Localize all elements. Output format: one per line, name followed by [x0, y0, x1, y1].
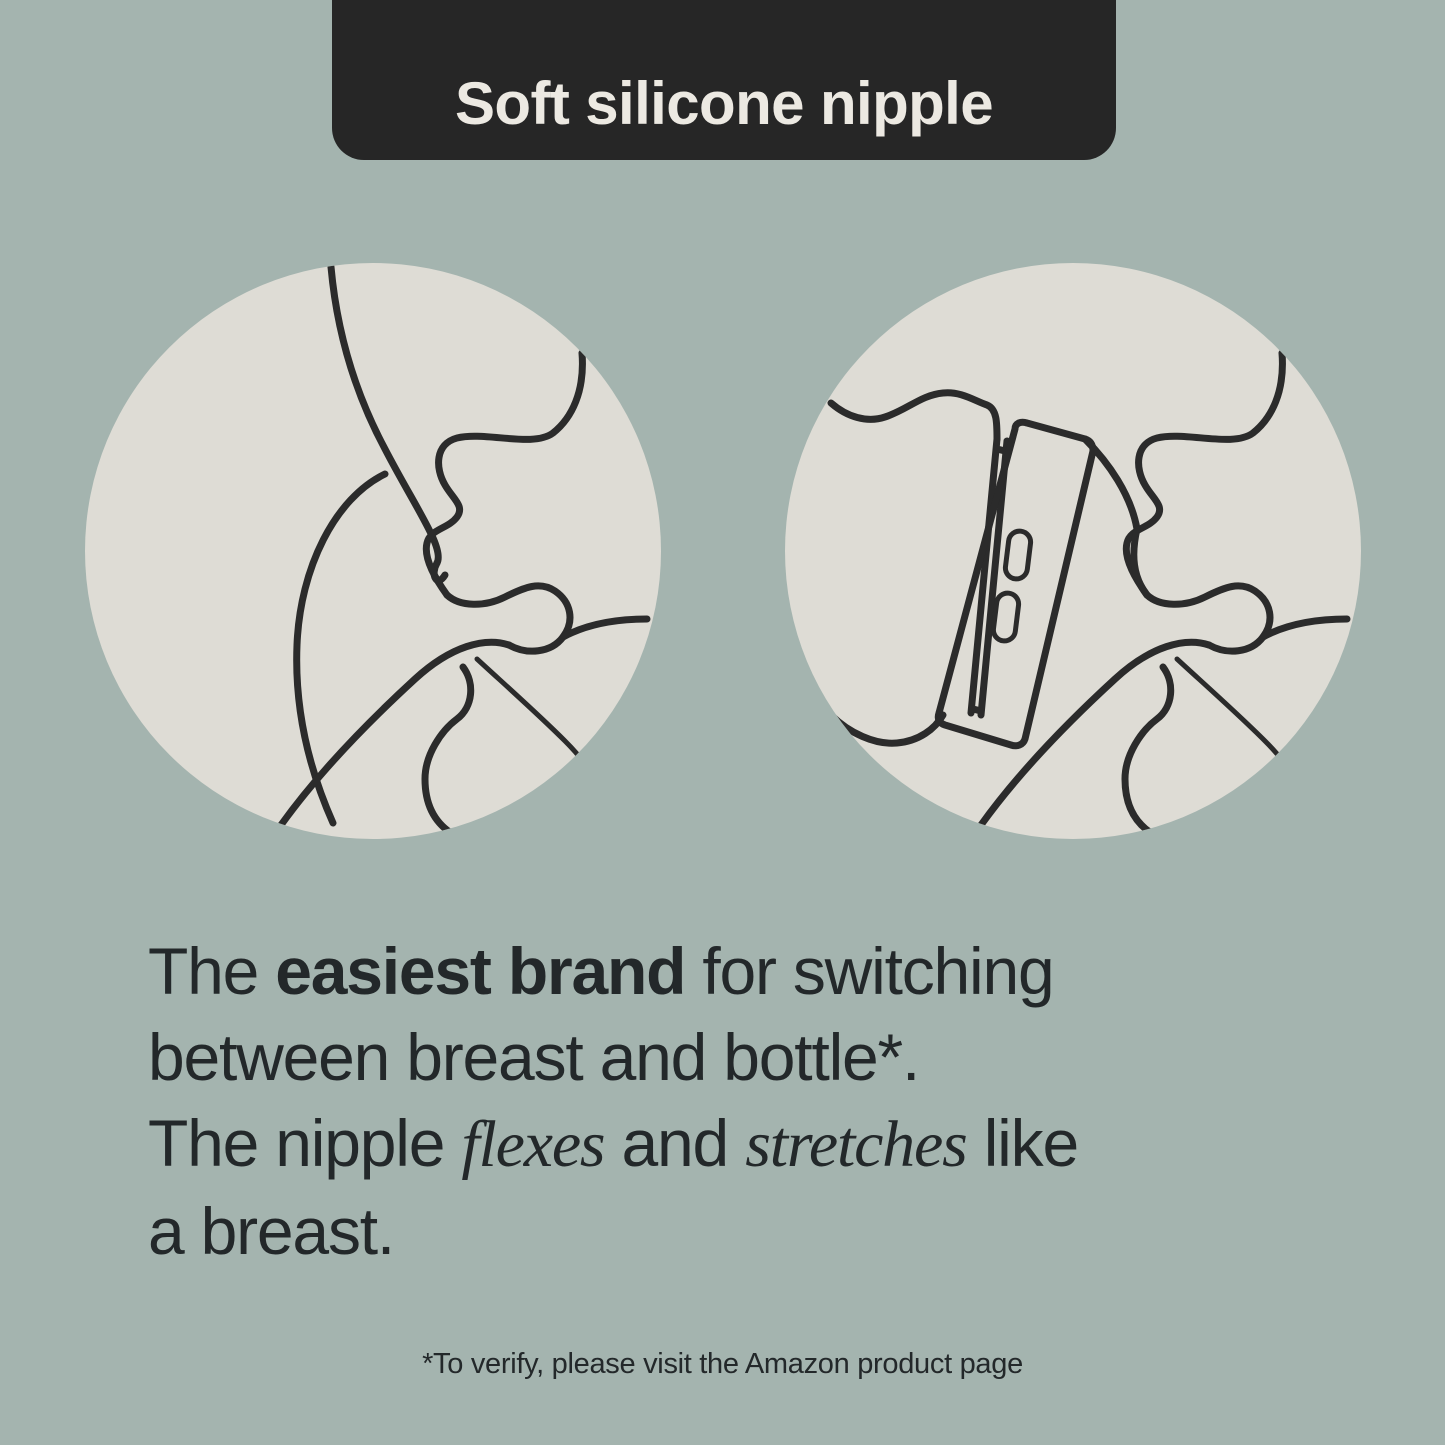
body-copy: The easiest brand for switching between … [148, 928, 1308, 1274]
copy-line-4: a breast. [148, 1188, 1308, 1274]
copy-line-4-text: a breast. [148, 1194, 394, 1268]
copy-line-1-post: for switching [685, 934, 1053, 1008]
product-feature-panel: Soft silicone nipple [0, 0, 1445, 1445]
copy-line-1: The easiest brand for switching [148, 928, 1308, 1014]
header-banner: Soft silicone nipple [332, 0, 1116, 160]
copy-line-1-bold: easiest brand [275, 934, 685, 1008]
breastfeeding-line-art-icon [85, 263, 661, 839]
footnote: *To verify, please visit the Amazon prod… [0, 1348, 1445, 1381]
copy-line-3-italic-stretches: stretches [745, 1108, 966, 1181]
copy-line-1-pre: The [148, 934, 275, 1008]
illustration-bottlefeeding [785, 263, 1361, 839]
copy-line-3-mid: and [604, 1106, 745, 1180]
page-title: Soft silicone nipple [455, 74, 993, 134]
copy-line-2-text: between breast and bottle*. [148, 1020, 919, 1094]
copy-line-3: The nipple flexes and stretches like [148, 1100, 1308, 1188]
copy-line-2: between breast and bottle*. [148, 1014, 1308, 1100]
copy-line-3-pre: The nipple [148, 1106, 461, 1180]
bottlefeeding-line-art-icon [785, 263, 1361, 839]
copy-line-3-post: like [967, 1106, 1078, 1180]
illustration-breastfeeding [85, 263, 661, 839]
copy-line-3-italic-flexes: flexes [461, 1108, 604, 1181]
